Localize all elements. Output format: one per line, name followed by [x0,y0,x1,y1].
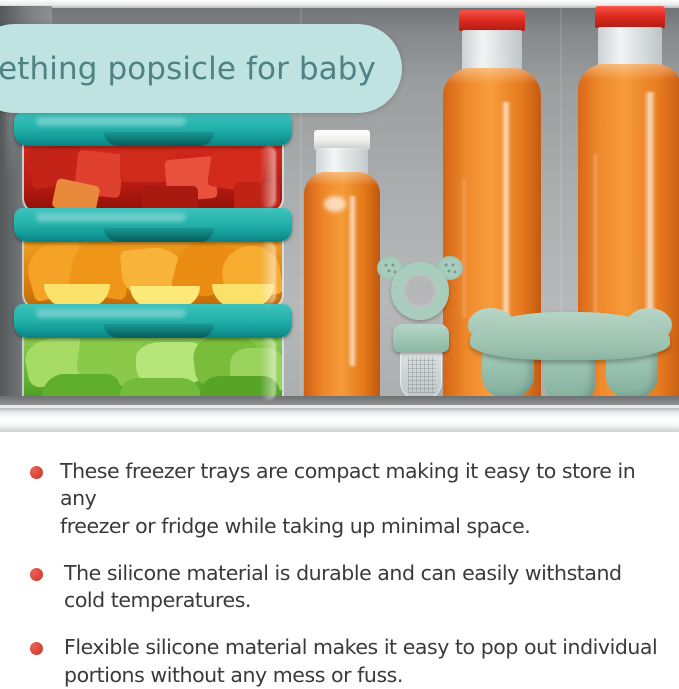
fridge-shelf-edge [0,405,679,408]
bullet-line-2: portions without any mess or fuss. [64,662,657,689]
small-juice-bottle [304,130,380,408]
container-lid [14,112,292,146]
product-photo: teething popsicle for baby [0,0,679,432]
silicone-freezer-tray [470,312,670,408]
fridge-shelf [0,396,679,432]
banner-title: teething popsicle for baby [0,51,376,87]
bullet-text: Flexible silicone material makes it easy… [60,634,657,689]
container-body [22,238,284,310]
bottle-body [304,172,380,408]
bottle-cap-white [314,130,370,150]
list-item: These freezer trays are compact making i… [30,458,661,540]
bullet-text: The silicone material is durable and can… [60,560,622,615]
silicone-fruit-feeder [383,250,457,402]
feeder-ring-handle [391,262,449,320]
bullet-line-2: freezer or fridge while taking up minima… [60,513,661,540]
feeder-mesh-pouch [400,350,442,400]
list-item: The silicone material is durable and can… [30,560,661,615]
banner-pill: teething popsicle for baby [0,24,402,113]
food-orange-slices [24,238,282,308]
bottle-cap-red [595,6,665,28]
stacked-glass-containers [22,112,290,408]
bottle-cap-red [459,10,525,31]
bullet-dot-icon [30,642,43,655]
food-red-peppers [24,142,282,212]
container-lid [14,304,292,338]
feeder-collar [393,324,449,352]
bullet-dot-icon [30,466,43,479]
bullet-line-1: The silicone material is durable and can… [64,561,622,585]
tray-lid [470,312,670,360]
bullet-dot-icon [30,568,43,581]
bullet-line-2: cold temperatures. [64,587,622,614]
bullet-line-1: These freezer trays are compact making i… [60,459,635,510]
bullet-line-1: Flexible silicone material makes it easy… [64,635,657,659]
container-lid [14,208,292,242]
feature-bullet-list: These freezer trays are compact making i… [0,432,679,679]
list-item: Flexible silicone material makes it easy… [30,634,661,689]
container-body [22,142,284,214]
bullet-text: These freezer trays are compact making i… [60,458,661,540]
